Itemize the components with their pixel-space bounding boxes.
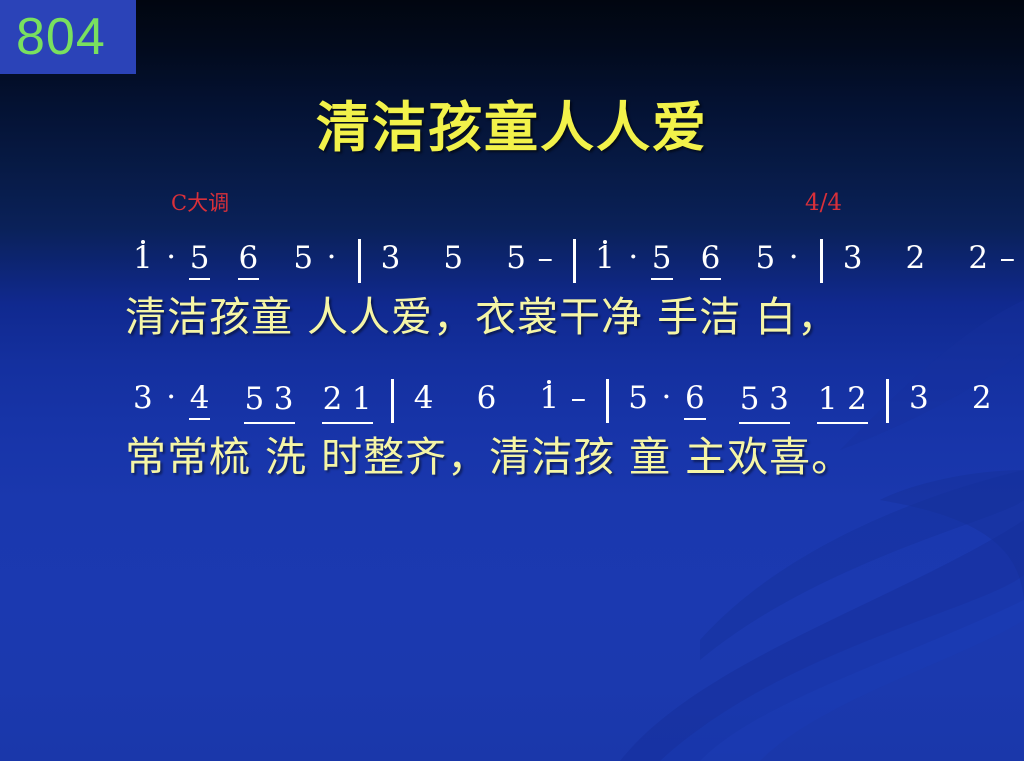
note: 3 xyxy=(769,378,789,422)
note: 3 xyxy=(380,238,402,278)
note: 1 xyxy=(538,378,560,418)
song-number-badge: 804 xyxy=(0,0,136,74)
note: 4 xyxy=(189,378,211,420)
barline xyxy=(886,379,889,423)
time-signature-label: 4/4 xyxy=(805,190,842,216)
note: 5 xyxy=(651,238,673,280)
measure-7: 5 · 6 5 3 1 2 xyxy=(627,378,868,424)
duration-dash: – xyxy=(999,238,1017,278)
note: 5 xyxy=(754,238,776,278)
note: 4 xyxy=(413,378,435,418)
augmentation-dot: · xyxy=(625,237,641,277)
barline xyxy=(573,239,576,283)
lyrics-line-2: 常常梳 洗 时整齐，清洁孩 童 主欢喜。 xyxy=(125,432,985,482)
beam-group: 1 2 xyxy=(817,378,868,424)
note: 3 xyxy=(908,378,930,418)
augmentation-dot: · xyxy=(786,237,802,277)
measure-5: 3 · 4 5 3 2 1 xyxy=(132,378,373,424)
notation-line-2: 3 · 4 5 3 2 1 4 6 1 – 5 · xyxy=(132,378,922,428)
note: 6 xyxy=(700,238,722,280)
note: 3 xyxy=(132,378,154,418)
song-number-text: 804 xyxy=(16,6,106,68)
note: 6 xyxy=(684,378,706,420)
key-signature-label: C大调 xyxy=(171,191,229,215)
note: 5 xyxy=(189,238,211,280)
barline xyxy=(358,239,361,283)
barline xyxy=(606,379,609,423)
note: 3 xyxy=(274,378,294,422)
slide-canvas: 804 清洁孩童人人爱 C大调 4/4 1 · 5 6 5 · 3 5 5 – … xyxy=(0,0,1024,761)
note: 2 xyxy=(967,238,989,278)
note: 2 xyxy=(323,378,343,422)
beam-group: 2 1 xyxy=(322,378,373,424)
augmentation-dot: · xyxy=(163,237,179,277)
augmentation-dot: · xyxy=(659,377,675,417)
duration-dash: – xyxy=(570,378,588,418)
page-title: 清洁孩童人人爱 xyxy=(0,97,1024,159)
measure-8: 3 2 1 – xyxy=(908,378,1024,422)
note: 5 xyxy=(740,378,760,422)
note: 6 xyxy=(476,378,498,418)
lyrics-line-1: 清洁孩童 人人爱，衣裳干净 手洁 白， xyxy=(125,292,985,342)
augmentation-dot: · xyxy=(324,237,340,277)
duration-dash: – xyxy=(537,238,555,278)
note: 5 xyxy=(627,378,649,418)
note: 5 xyxy=(442,238,464,278)
measure-3: 1 · 5 6 5 · xyxy=(594,238,801,282)
note: 5 xyxy=(245,378,265,422)
note: 1 xyxy=(818,378,838,422)
note: 2 xyxy=(971,378,993,418)
beam-group: 5 3 xyxy=(739,378,790,424)
barline xyxy=(820,239,823,283)
measure-4: 3 2 2 – xyxy=(842,238,1016,282)
beam-group: 5 3 xyxy=(244,378,295,424)
notation-line-1: 1 · 5 6 5 · 3 5 5 – 1 · 5 6 5 · xyxy=(132,238,922,288)
note: 5 xyxy=(292,238,314,278)
note: 2 xyxy=(847,378,867,422)
note: 2 xyxy=(905,238,927,278)
measure-6: 4 6 1 – xyxy=(413,378,587,422)
note: 1 xyxy=(132,238,154,278)
note: 5 xyxy=(505,238,527,278)
measure-1: 1 · 5 6 5 · xyxy=(132,238,339,282)
note: 1 xyxy=(352,378,372,422)
note: 3 xyxy=(842,238,864,278)
measure-2: 3 5 5 – xyxy=(380,238,554,282)
note: 1 xyxy=(594,238,616,278)
note: 6 xyxy=(238,238,260,280)
barline xyxy=(391,379,394,423)
augmentation-dot: · xyxy=(163,377,179,417)
